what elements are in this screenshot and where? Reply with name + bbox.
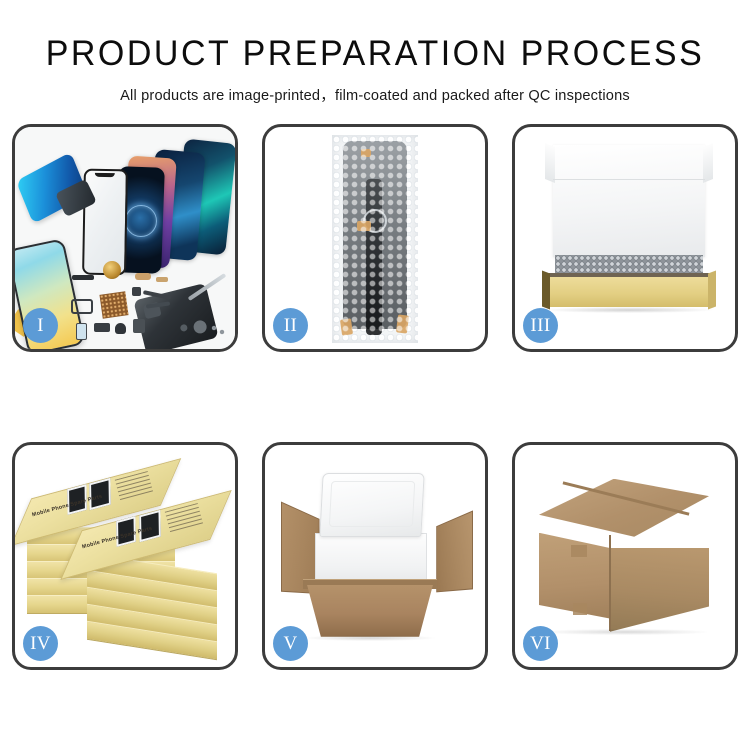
process-panel-5: V <box>262 442 488 670</box>
process-panel-1: I <box>12 124 238 352</box>
packing-tape <box>571 545 587 557</box>
spare-part <box>133 319 145 333</box>
foam-box-lid <box>319 473 424 537</box>
flex-cable-strip <box>366 179 382 335</box>
process-panel-3: III <box>512 124 738 352</box>
spare-part <box>72 275 94 280</box>
step-badge-3: III <box>523 308 558 343</box>
adhesive-tape <box>396 314 409 333</box>
adhesive-tape <box>357 221 371 231</box>
box-shadow <box>305 635 435 641</box>
box-shadow <box>545 307 713 313</box>
page-title: PRODUCT PREPARATION PROCESS <box>11 36 739 73</box>
white-box-lid <box>553 145 705 257</box>
page-subtitle: All products are image-printed，film-coat… <box>0 84 750 105</box>
outer-cardboard-carton <box>307 585 433 637</box>
step-badge-6: VI <box>523 626 558 661</box>
adhesive-tape <box>340 318 353 335</box>
spare-part <box>76 323 87 340</box>
box-shadow <box>543 629 707 635</box>
process-panel-2: II <box>262 124 488 352</box>
spare-part <box>132 287 141 296</box>
carton-right-face <box>610 548 709 632</box>
step-badge-4: IV <box>23 626 58 661</box>
copper-chip-grid <box>99 291 128 318</box>
yellow-mailer-box <box>549 277 709 307</box>
packing-tape <box>573 603 587 615</box>
process-panel-6: VI <box>512 442 738 670</box>
screen-protector-glass <box>82 168 128 275</box>
process-panel-4: Mobile Phone Spare Parts Mobile Phone Sp… <box>12 442 238 670</box>
adhesive-tape <box>361 149 371 157</box>
spare-part <box>71 299 93 314</box>
carton-flap-right <box>436 510 473 592</box>
lid-crease <box>553 179 705 180</box>
spare-part <box>135 273 151 280</box>
carton-top-face <box>539 479 709 537</box>
carton-front-edge <box>609 535 611 631</box>
spare-part <box>156 277 168 282</box>
spare-part <box>115 323 126 334</box>
step-badge-5: V <box>273 626 308 661</box>
process-grid: I II III <box>12 124 738 670</box>
gold-round-component <box>103 261 121 279</box>
header: PRODUCT PREPARATION PROCESS All products… <box>0 0 750 105</box>
screws <box>211 325 227 335</box>
step-badge-1: I <box>23 308 58 343</box>
step-badge-2: II <box>273 308 308 343</box>
spare-part <box>94 323 110 332</box>
